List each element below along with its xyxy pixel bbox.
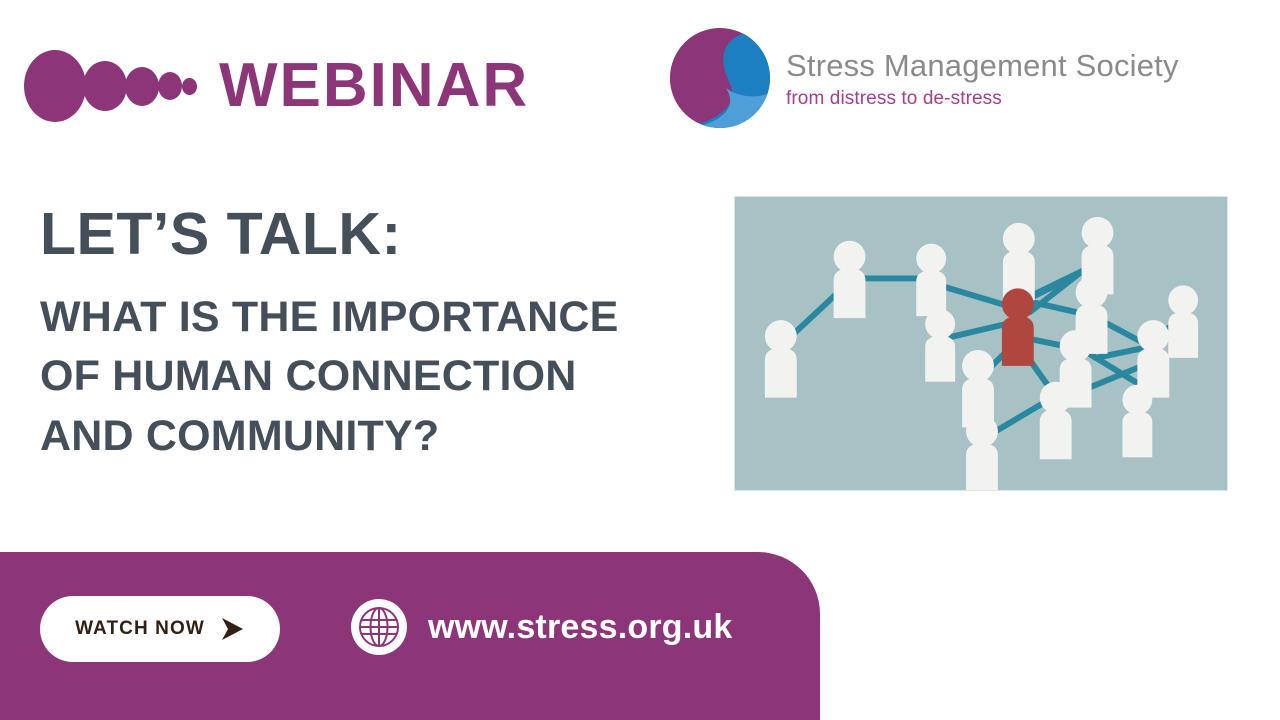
globe-icon [350, 598, 408, 656]
brand-name: Stress Management Society [786, 50, 1179, 83]
headline-block: LET’S TALK: WHAT IS THE IMPORTANCE OF HU… [40, 205, 720, 466]
figure [925, 309, 955, 382]
brand-tagline: from distress to de-stress [786, 88, 1179, 110]
figure [1122, 385, 1152, 458]
figure [916, 244, 946, 317]
webinar-promo-slide: WEBINAR Stress Management Society from d… [0, 0, 1280, 720]
dot-5 [182, 78, 197, 95]
headline-line-1: WHAT IS THE IMPORTANCE [40, 288, 720, 347]
highlighted-figure [1002, 288, 1034, 365]
headline-eyebrow: LET’S TALK: [40, 205, 720, 264]
network-of-people-figures-photo [734, 196, 1228, 491]
webinar-badge: WEBINAR [24, 46, 529, 126]
watch-now-button[interactable]: WATCH NOW [40, 596, 280, 662]
website-link[interactable]: www.stress.org.uk [350, 598, 732, 656]
headline-line-2: OF HUMAN CONNECTION [40, 347, 720, 406]
webinar-label: WEBINAR [219, 55, 529, 117]
dot-2 [83, 61, 127, 111]
dot-4 [158, 72, 182, 100]
dot-3 [125, 67, 159, 106]
watch-now-label: WATCH NOW [75, 618, 205, 640]
decorative-dots-icon [24, 50, 197, 122]
network-illustration [735, 197, 1227, 490]
figure [834, 241, 866, 318]
figure [962, 350, 994, 427]
figure [966, 416, 998, 490]
dot-1 [24, 50, 86, 122]
figure [1168, 285, 1198, 358]
stress-management-society-logo-icon [668, 26, 772, 130]
brand-logo: Stress Management Society from distress … [668, 26, 1179, 130]
headline-line-3: AND COMMUNITY? [40, 407, 720, 466]
website-url: www.stress.org.uk [428, 608, 732, 647]
figure [765, 320, 797, 397]
figure [1040, 382, 1072, 459]
play-arrow-icon [219, 616, 245, 642]
